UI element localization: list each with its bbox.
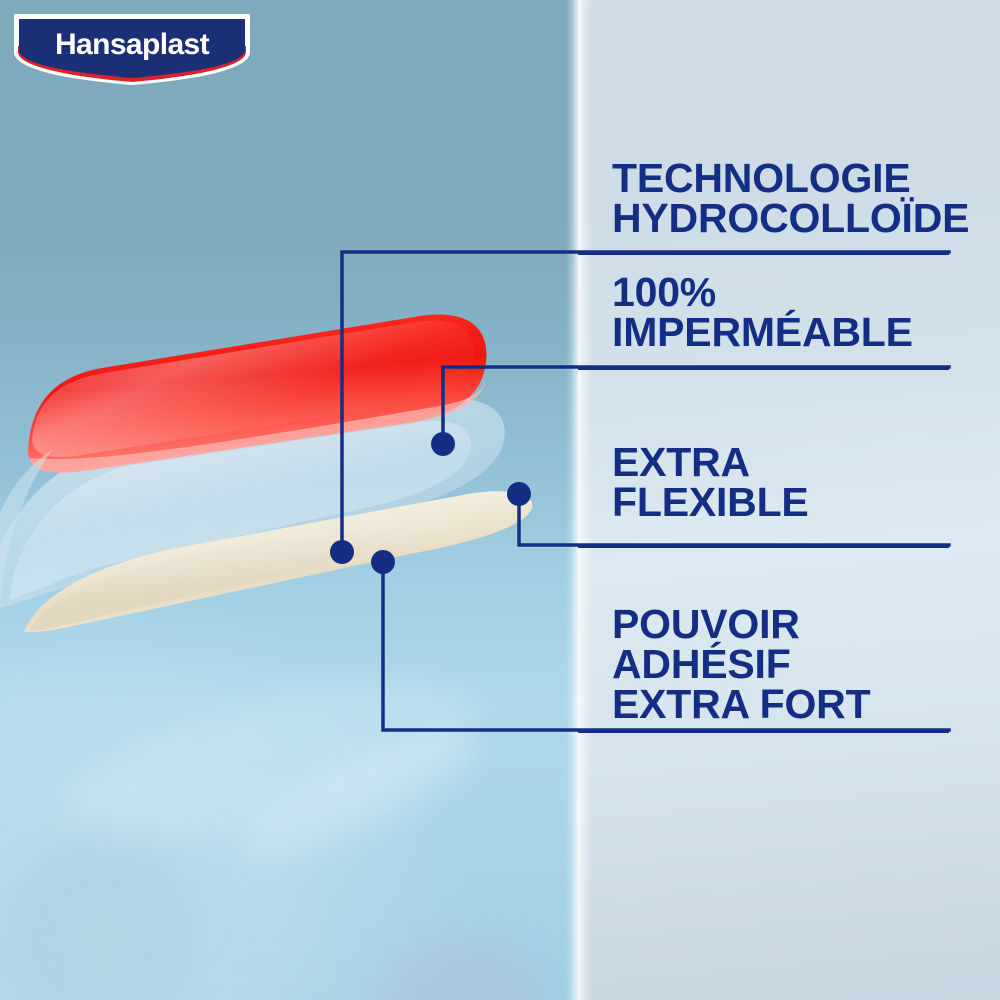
feature-rule xyxy=(578,252,949,255)
panel-divider xyxy=(566,0,592,1000)
feature-label-extra-flexible: EXTRA FLEXIBLE xyxy=(612,442,952,522)
feature-label-technologie-hydrocolloide: TECHNOLOGIE HYDROCOLLOÏDE xyxy=(612,158,952,238)
feature-line: ADHÉSIF xyxy=(612,644,952,684)
feature-label-pouvoir-adhesif-extra-fort: POUVOIR ADHÉSIF EXTRA FORT xyxy=(612,604,952,725)
feature-label-100-impermeable: 100% IMPERMÉABLE xyxy=(612,272,952,352)
feature-line: 100% xyxy=(612,272,952,312)
background-left-panel xyxy=(0,0,578,1000)
feature-line: HYDROCOLLOÏDE xyxy=(612,198,952,238)
feature-line: EXTRA FORT xyxy=(612,684,952,724)
feature-line: TECHNOLOGIE xyxy=(612,158,952,198)
logo-wordmark: Hansaplast xyxy=(55,28,210,61)
feature-line: IMPERMÉABLE xyxy=(612,312,952,352)
feature-line: FLEXIBLE xyxy=(612,482,952,522)
feature-rule xyxy=(578,367,949,370)
feature-rule xyxy=(578,730,949,733)
product-infographic: TECHNOLOGIE HYDROCOLLOÏDE 100% IMPERMÉAB… xyxy=(0,0,1000,1000)
feature-line: POUVOIR xyxy=(612,604,952,644)
feature-rule xyxy=(578,545,949,548)
feature-line: EXTRA xyxy=(612,442,952,482)
hansaplast-logo: Hansaplast xyxy=(12,12,252,90)
